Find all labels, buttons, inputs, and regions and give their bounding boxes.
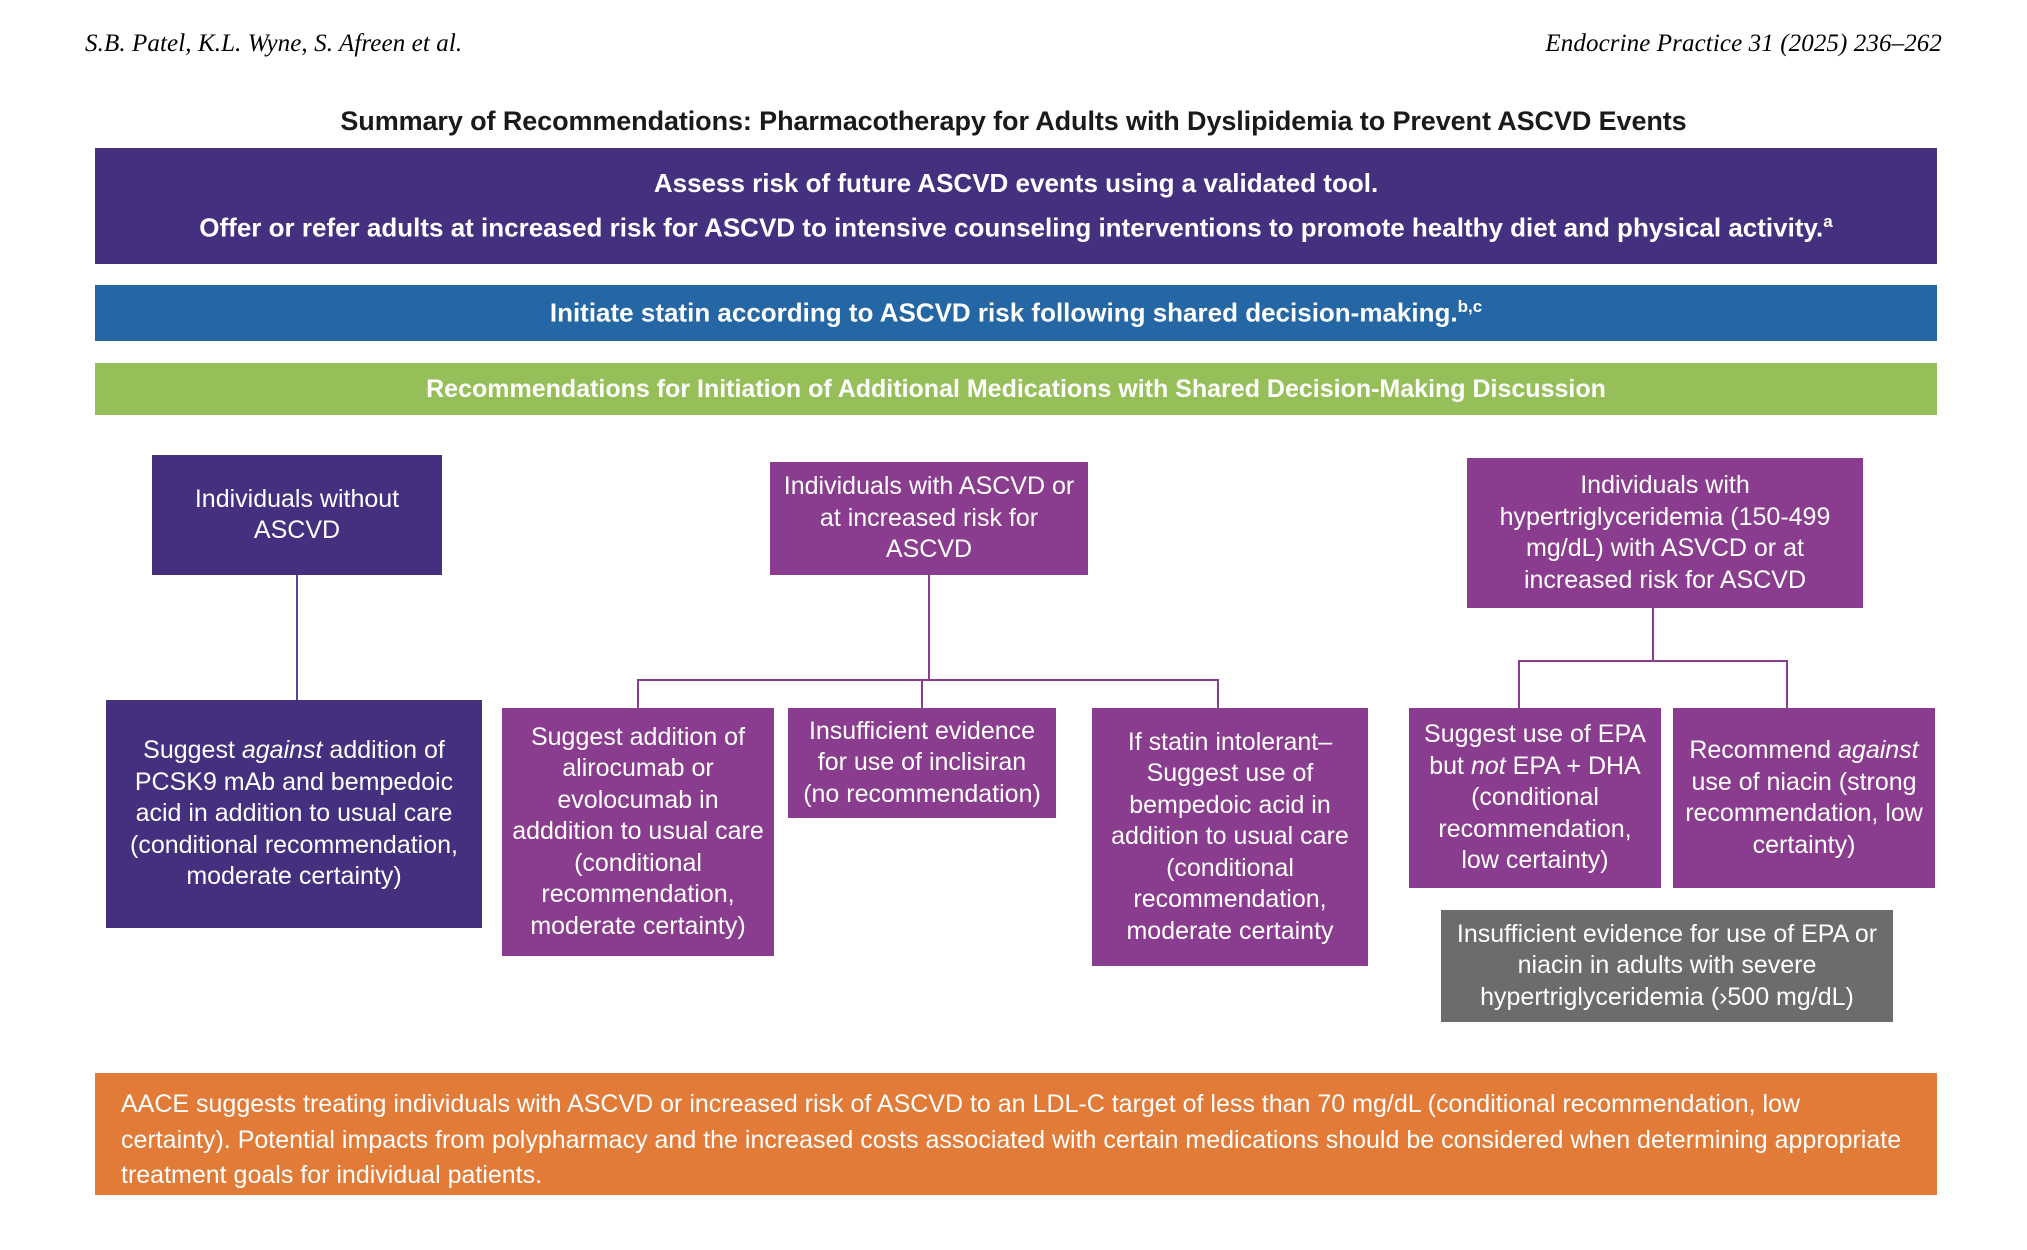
- recommendation-text-severe-htg: Insufficient evidence for use of EPA or …: [1451, 919, 1883, 1014]
- category-label-hypertriglyceridemia: Individuals with hypertriglyceridemia (1…: [1477, 470, 1853, 596]
- rec-niacin-pre: Recommend: [1689, 736, 1838, 764]
- footer-note-text: AACE suggests treating individuals with …: [121, 1090, 1901, 1189]
- recommendation-box-niacin[interactable]: Recommend against use of niacin (strong …: [1673, 708, 1935, 888]
- banner-statin-text: Initiate statin according to ASCVD risk …: [550, 298, 1458, 328]
- figure-title: Summary of Recommendations: Pharmacother…: [0, 106, 2027, 137]
- recommendation-text-inclisiran: Insufficient evidence for use of inclisi…: [798, 716, 1046, 811]
- category-label-with-ascvd: Individuals with ASCVD or at increased r…: [780, 471, 1078, 566]
- recommendation-text-niacin: Recommend against use of niacin (strong …: [1683, 735, 1925, 861]
- rec-pcsk9-pre: Suggest: [143, 736, 242, 764]
- banner-assess-line-2-text: Offer or refer adults at increased risk …: [199, 212, 1823, 242]
- category-box-individuals-without-ascvd[interactable]: Individuals without ASCVD: [152, 455, 442, 575]
- banner-assess-line-2: Offer or refer adults at increased risk …: [199, 211, 1832, 245]
- footnote-marker-bc: b,c: [1458, 297, 1483, 316]
- connector-middle-bus: [637, 679, 1218, 681]
- recommendation-box-inclisiran[interactable]: Insufficient evidence for use of inclisi…: [788, 708, 1056, 818]
- rec-niacin-post: use of niacin (strong recommendation, lo…: [1685, 768, 1923, 859]
- recommendation-box-pcsk9-bempedoic[interactable]: Suggest against addition of PCSK9 mAb an…: [106, 700, 482, 928]
- connector-right-stem: [1652, 608, 1654, 661]
- recommendation-box-severe-hypertriglyceridemia[interactable]: Insufficient evidence for use of EPA or …: [1441, 910, 1893, 1022]
- connector-middle-drop-left: [637, 679, 639, 708]
- recommendation-box-epa[interactable]: Suggest use of EPA but not EPA + DHA (co…: [1409, 708, 1661, 888]
- running-head: S.B. Patel, K.L. Wyne, S. Afreen et al. …: [0, 30, 2027, 64]
- banner-assess-line-1: Assess risk of future ASCVD events using…: [654, 167, 1378, 200]
- recommendation-text-bempedoic: If statin intolerant–Suggest use of bemp…: [1102, 727, 1358, 948]
- rec-epa-emphasis: not: [1471, 752, 1506, 780]
- banner-initiate-statin: Initiate statin according to ASCVD risk …: [95, 285, 1937, 341]
- footnote-marker-a: a: [1823, 212, 1832, 231]
- category-box-hypertriglyceridemia[interactable]: Individuals with hypertriglyceridemia (1…: [1467, 458, 1863, 608]
- recommendation-box-alirocumab-evolocumab[interactable]: Suggest addition of alirocumab or evoloc…: [502, 708, 774, 956]
- recommendation-text-pcsk9: Suggest against addition of PCSK9 mAb an…: [116, 735, 472, 893]
- banner-additional-medications: Recommendations for Initiation of Additi…: [95, 363, 1937, 415]
- connector-middle-stem: [928, 575, 930, 680]
- category-label-without-ascvd: Individuals without ASCVD: [162, 484, 432, 547]
- recommendation-text-alirocumab: Suggest addition of alirocumab or evoloc…: [512, 722, 764, 943]
- connector-middle-drop-right: [1217, 679, 1219, 708]
- connector-left-vertical: [296, 575, 298, 700]
- connector-right-bus: [1518, 660, 1787, 662]
- recommendation-box-bempedoic-statin-intolerant[interactable]: If statin intolerant–Suggest use of bemp…: [1092, 708, 1368, 966]
- connector-right-drop-left: [1518, 660, 1520, 708]
- rec-pcsk9-emphasis: against: [242, 736, 323, 764]
- banner-additional-text: Recommendations for Initiation of Additi…: [426, 375, 1606, 404]
- banner-statin-line: Initiate statin according to ASCVD risk …: [550, 297, 1482, 329]
- rec-niacin-emphasis: against: [1838, 736, 1919, 764]
- footer-note-ldl-target: AACE suggests treating individuals with …: [95, 1073, 1937, 1195]
- running-head-authors: S.B. Patel, K.L. Wyne, S. Afreen et al.: [85, 30, 462, 58]
- connector-middle-drop-center: [921, 679, 923, 708]
- running-head-journal: Endocrine Practice 31 (2025) 236–262: [1545, 30, 1942, 58]
- category-box-individuals-with-ascvd[interactable]: Individuals with ASCVD or at increased r…: [770, 462, 1088, 575]
- connector-right-drop-right: [1786, 660, 1788, 708]
- banner-assess-risk: Assess risk of future ASCVD events using…: [95, 148, 1937, 264]
- recommendation-text-epa: Suggest use of EPA but not EPA + DHA (co…: [1419, 719, 1651, 877]
